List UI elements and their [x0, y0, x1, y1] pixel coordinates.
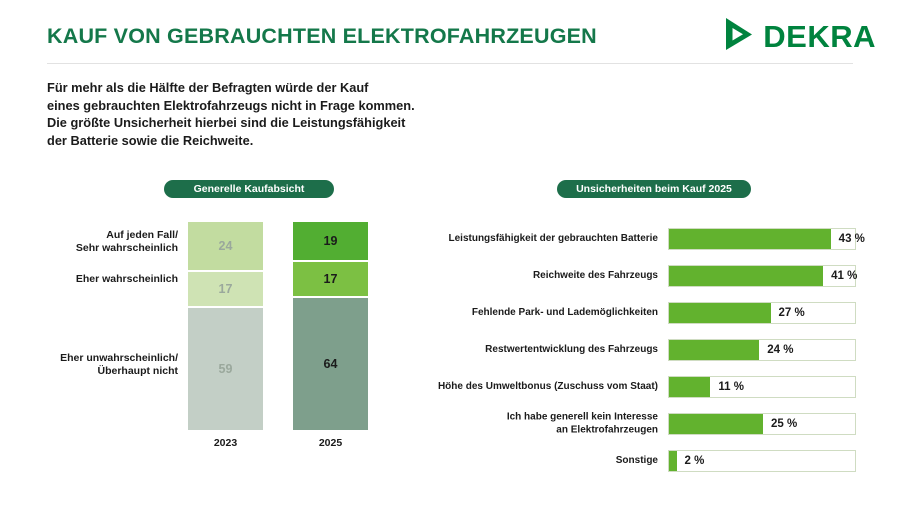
page-title: KAUF VON GEBRAUCHTEN ELEKTROFAHRZEUGEN: [47, 24, 597, 49]
stack-segment-2025-1: 17: [293, 262, 368, 296]
bar-value-label: 41 %: [831, 270, 857, 282]
bar-row-label: Reichweite des Fahrzeugs: [420, 270, 658, 283]
stack-segment-2023-0: 24: [188, 222, 263, 270]
bar-row-label-line-1: Höhe des Umweltbonus (Zuschuss vom Staat…: [438, 381, 658, 392]
bar-row-label-line-2: an Elektrofahrzeugen: [556, 424, 658, 435]
bar-fill: [669, 451, 677, 471]
bar-track: 24 %: [668, 339, 856, 361]
bar-fill: [669, 229, 831, 249]
bar-row-label: Sonstige: [420, 455, 658, 468]
subtitle-line-1: Für mehr als die Hälfte der Befragten wü…: [47, 79, 517, 97]
category-label-eher-unwahrscheinlich: Eher unwahrscheinlich/ Überhaupt nicht: [60, 352, 178, 378]
stack-segment-2023-1: 17: [188, 272, 263, 306]
bar-track: 25 %: [668, 413, 856, 435]
bar-fill: [669, 303, 771, 323]
bar-track: 41 %: [668, 265, 856, 287]
bar-value-label: 2 %: [685, 455, 705, 467]
stack-segment-2025-2: 64: [293, 298, 368, 430]
bar-value-label: 24 %: [767, 344, 793, 356]
subtitle-line-2: eines gebrauchten Elektrofahrzeugs nicht…: [47, 97, 517, 115]
subtitle-line-4: der Batterie sowie die Reichweite.: [47, 132, 517, 150]
dekra-logo: DEKRA: [724, 17, 876, 56]
bar-row-label-line-1: Sonstige: [616, 455, 658, 466]
bar-row-label-line-1: Restwertentwicklung des Fahrzeugs: [485, 344, 658, 355]
section-badge-unsicherheiten: Unsicherheiten beim Kauf 2025: [557, 180, 751, 198]
page-header: KAUF VON GEBRAUCHTEN ELEKTROFAHRZEUGEN D…: [0, 0, 900, 66]
bar-track: 2 %: [668, 450, 856, 472]
bar-value-label: 25 %: [771, 418, 797, 430]
stacked-column-chart: Auf jeden Fall/ Sehr wahrscheinlich Eher…: [40, 222, 370, 457]
bar-row: Restwertentwicklung des Fahrzeugs24 %: [420, 339, 868, 361]
bar-row-label: Fehlende Park- und Lademöglichkeiten: [420, 307, 658, 320]
stack-segment-value: 24: [219, 239, 233, 253]
stacked-category-labels: Auf jeden Fall/ Sehr wahrscheinlich Eher…: [40, 222, 178, 432]
dekra-wordmark: DEKRA: [763, 21, 876, 52]
bar-row: Reichweite des Fahrzeugs41 %: [420, 265, 868, 287]
bar-fill: [669, 340, 759, 360]
bar-row-label-line-1: Reichweite des Fahrzeugs: [533, 270, 658, 281]
bar-row: Höhe des Umweltbonus (Zuschuss vom Staat…: [420, 376, 868, 398]
horizontal-bar-chart: Leistungsfähigkeit der gebrauchten Batte…: [420, 228, 868, 488]
stacked-column-2025: 191764: [293, 222, 368, 432]
bar-row: Leistungsfähigkeit der gebrauchten Batte…: [420, 228, 868, 250]
subtitle-line-3: Die größte Unsicherheit hierbei sind die…: [47, 114, 517, 132]
stacked-column-2023: 241759: [188, 222, 263, 432]
stack-segment-value: 17: [324, 272, 338, 286]
bar-track: 27 %: [668, 302, 856, 324]
bar-track: 11 %: [668, 376, 856, 398]
stack-segment-2023-2: 59: [188, 308, 263, 430]
stack-segment-value: 19: [324, 234, 338, 248]
bar-row-label: Ich habe generell kein Interessean Elekt…: [420, 412, 658, 437]
bar-row-label-line-1: Fehlende Park- und Lademöglichkeiten: [472, 307, 658, 318]
bar-fill: [669, 266, 823, 286]
bar-fill: [669, 377, 710, 397]
bar-value-label: 43 %: [839, 233, 865, 245]
axis-label-2025: 2025: [293, 437, 368, 449]
bar-row-label: Restwertentwicklung des Fahrzeugs: [420, 344, 658, 357]
bar-row-label-line-1: Ich habe generell kein Interesse: [507, 412, 658, 423]
category-label-eher-wahrscheinlich: Eher wahrscheinlich: [76, 273, 178, 286]
bar-value-label: 11 %: [718, 381, 744, 393]
dekra-chevron-icon: [724, 17, 754, 56]
bar-row: Ich habe generell kein Interessean Elekt…: [420, 413, 868, 435]
stack-segment-value: 59: [219, 362, 233, 376]
subtitle-block: Für mehr als die Hälfte der Befragten wü…: [47, 79, 517, 149]
category-label-sehr-wahrscheinlich: Auf jeden Fall/ Sehr wahrscheinlich: [76, 229, 178, 255]
stack-segment-value: 17: [219, 282, 233, 296]
bar-row-label: Leistungsfähigkeit der gebrauchten Batte…: [420, 233, 658, 246]
bar-row: Sonstige2 %: [420, 450, 868, 472]
stack-segment-2025-0: 19: [293, 222, 368, 260]
stacked-bars-area: 241759 191764 2023 2025: [188, 222, 370, 432]
bar-row: Fehlende Park- und Lademöglichkeiten27 %: [420, 302, 868, 324]
bar-value-label: 27 %: [779, 307, 805, 319]
header-divider: [47, 63, 853, 64]
bar-row-label-line-1: Leistungsfähigkeit der gebrauchten Batte…: [449, 233, 659, 244]
bar-row-label: Höhe des Umweltbonus (Zuschuss vom Staat…: [420, 381, 658, 394]
section-badge-generelle-kaufabsicht: Generelle Kaufabsicht: [164, 180, 334, 198]
stack-segment-value: 64: [324, 357, 338, 371]
axis-label-2023: 2023: [188, 437, 263, 449]
bar-track: 43 %: [668, 228, 856, 250]
bar-fill: [669, 414, 763, 434]
